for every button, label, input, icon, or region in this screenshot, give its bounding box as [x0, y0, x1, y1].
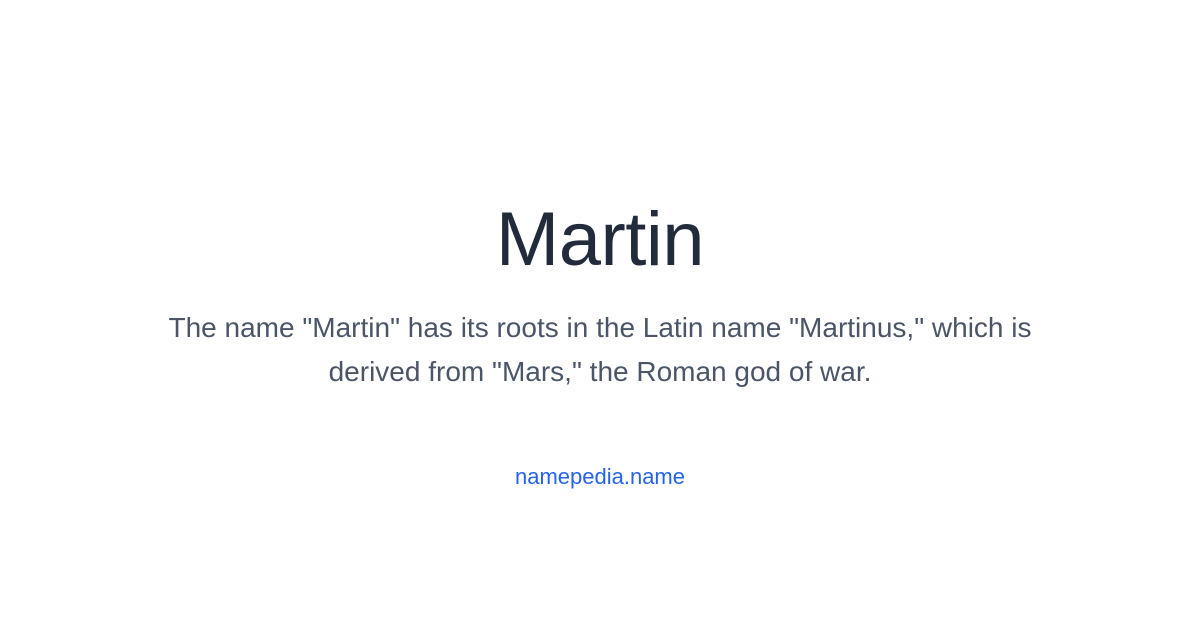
main-content: Martin The name "Martin" has its roots i… [80, 196, 1120, 394]
page-title: Martin [496, 196, 704, 284]
name-meaning-card: Martin The name "Martin" has its roots i… [0, 0, 1200, 630]
footer: namepedia.name [515, 462, 685, 492]
site-link[interactable]: namepedia.name [515, 462, 685, 492]
name-description: The name "Martin" has its roots in the L… [145, 306, 1055, 394]
